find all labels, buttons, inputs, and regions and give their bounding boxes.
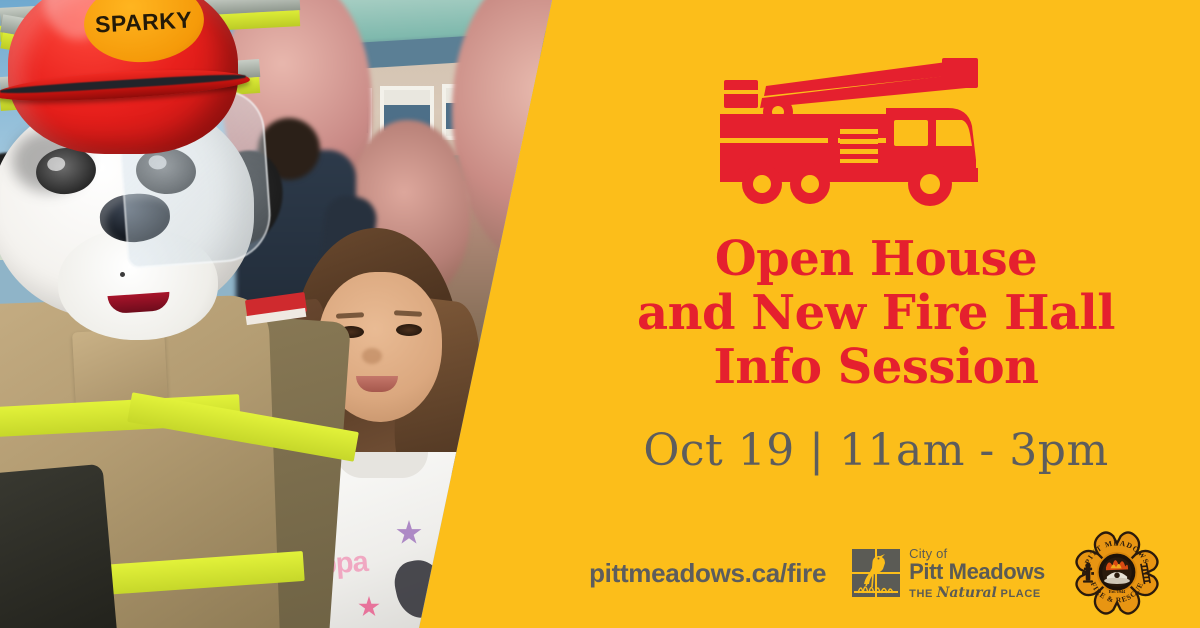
crest-est-text: Est. 1944 [1109, 589, 1126, 594]
city-logo-line-1: City of [909, 547, 1045, 560]
child-eye [396, 324, 422, 336]
headline-line-3: Info Session [552, 341, 1200, 395]
equipment-bag [0, 464, 117, 628]
city-logo-tagline: THE Natural PLACE [909, 586, 1045, 600]
city-logo-line-2: Pitt Meadows [909, 561, 1045, 583]
tagline-pre: THE [909, 588, 936, 600]
event-datetime: Oct 19 | 11am - 3pm [552, 425, 1200, 476]
page-title: Open House and New Fire Hall Info Sessio… [552, 233, 1200, 394]
city-of-pitt-meadows-logo: City of Pitt Meadows THE Natural PLACE [852, 547, 1045, 600]
tagline-post: PLACE [997, 588, 1041, 600]
fire-truck-ladder-icon [700, 50, 1000, 210]
helmet-badge-text: SPARKY [95, 6, 193, 38]
event-poster: eppa SPARKY [0, 0, 1200, 628]
mascot-whisker-dot [120, 272, 125, 277]
pitt-meadows-fire-rescue-crest: Est. 1944 PITT MEADOWS FIRE & RESCUE [1071, 527, 1163, 619]
headline-line-1: Open House [552, 233, 1200, 287]
event-photo: eppa SPARKY [0, 0, 600, 628]
heron-in-grass-icon [852, 549, 900, 597]
website-url[interactable]: pittmeadows.ca/fire [589, 558, 826, 589]
city-logo-wordmark: City of Pitt Meadows THE Natural PLACE [909, 547, 1045, 600]
headline-line-2: and New Fire Hall [552, 287, 1200, 341]
footer-bar: pittmeadows.ca/fire City of P [552, 528, 1200, 618]
child-nose [362, 348, 382, 364]
tagline-emphasis: Natural [937, 585, 997, 601]
helmet-name-badge: SPARKY [81, 0, 206, 66]
